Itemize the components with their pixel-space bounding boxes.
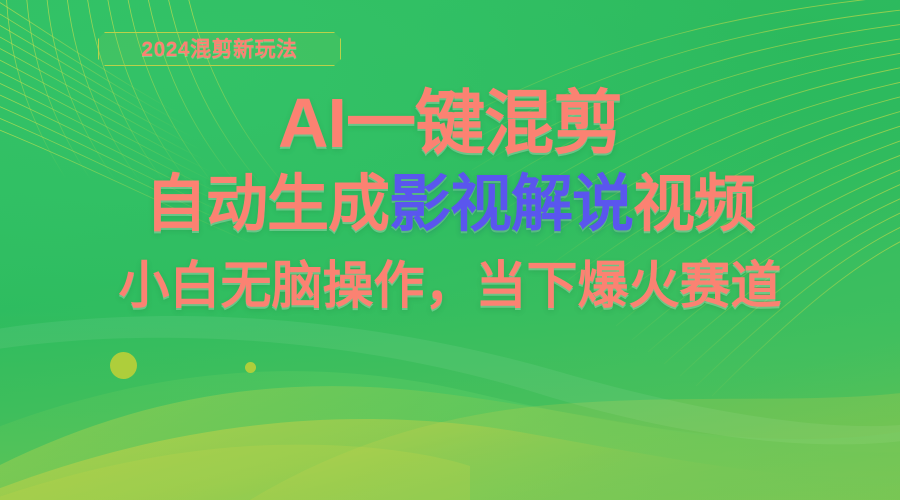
headline-line-3: 小白无脑操作，当下爆火赛道 [0,260,900,311]
headline-line-2-highlight: 影视解说 [389,170,633,239]
decorative-circle-large [110,352,137,379]
badge-2024: 2024混剪新玩法 [98,32,341,66]
headline-line-2: 自动生成影视解说视频 [0,174,900,236]
headline-block: AI一键混剪 自动生成影视解说视频 小白无脑操作，当下爆火赛道 [0,88,900,311]
badge-label: 2024混剪新玩法 [141,39,297,60]
headline-line-2-part-1: 自动生成 [145,170,389,239]
headline-line-2-part-2: 视频 [633,170,755,239]
poster-canvas: 2024混剪新玩法 AI一键混剪 自动生成影视解说视频 小白无脑操作，当下爆火赛… [0,0,900,500]
decorative-circle-small [245,362,256,373]
headline-line-1: AI一键混剪 [0,88,900,158]
